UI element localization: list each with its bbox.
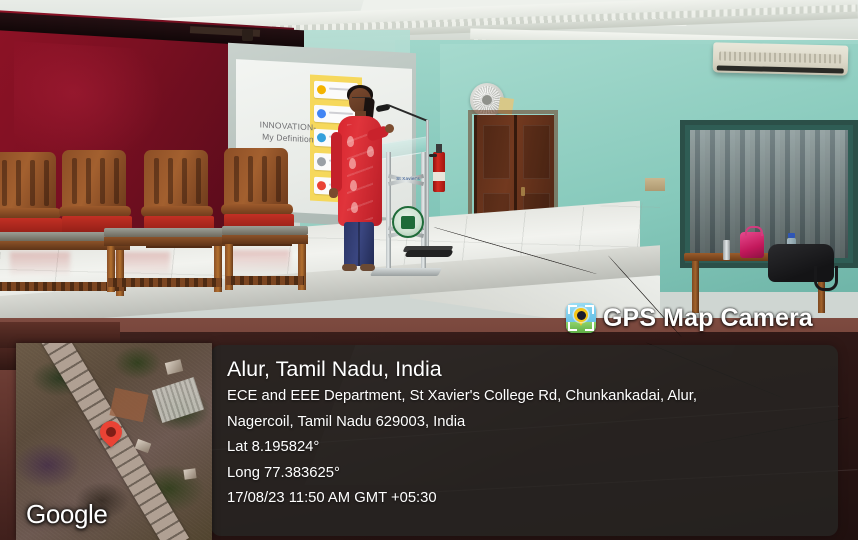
- mic-stand-pole: [426, 120, 429, 252]
- table-top: [222, 226, 308, 235]
- coffee-table: [222, 226, 308, 282]
- person-arm-left: [331, 132, 342, 192]
- location-info-panel: Alur, Tamil Nadu, India ECE and EEE Depa…: [211, 345, 838, 536]
- logo-bracket-top-left: [568, 305, 577, 314]
- person-footwear: [360, 264, 375, 271]
- table-top: [104, 228, 226, 237]
- ac-vent: [719, 51, 842, 63]
- gps-map-camera-photo: INNOVATION- My Definition: [0, 0, 858, 540]
- window-curtain-box: [680, 120, 858, 268]
- location-address-line-1: ECE and EEE Department, St Xavier's Coll…: [227, 384, 838, 410]
- location-latitude: Lat 8.195824°: [227, 435, 838, 461]
- table-rail: [108, 278, 222, 287]
- person-hand-left: [329, 188, 338, 198]
- mic-stand-base: [404, 250, 453, 257]
- logo-bracket-bottom-right: [585, 322, 594, 331]
- map-thumbnail[interactable]: Google: [16, 343, 212, 540]
- table-rail: [226, 276, 304, 285]
- location-longitude: Long 77.383625°: [227, 461, 838, 487]
- door-knob: [521, 187, 525, 196]
- slide-title-text: INNOVATION- My Definition: [243, 117, 333, 146]
- chair-back: [62, 150, 126, 212]
- fire-extinguisher: [433, 152, 445, 192]
- speaker-person: [333, 88, 385, 274]
- podium-name-plate: St Xavier's: [388, 176, 428, 181]
- coffee-table: [104, 228, 226, 292]
- location-title: Alur, Tamil Nadu, India: [227, 354, 838, 384]
- ac-lip: [717, 65, 844, 73]
- building: [183, 468, 196, 480]
- gps-map-camera-watermark: GPS Map Camera: [566, 303, 813, 333]
- air-conditioner-unit: [713, 42, 849, 75]
- person-jeans: [344, 222, 374, 266]
- table-apron: [104, 237, 226, 246]
- extinguisher-hose: [429, 154, 437, 157]
- location-address-line-2: Nagercoil, Tamil Nadu 629003, India: [227, 410, 838, 436]
- window-curtain: [690, 130, 848, 258]
- door-panel: [523, 125, 550, 179]
- gps-map-camera-logo-icon: [566, 303, 596, 333]
- logo-bracket-bottom-left: [568, 322, 577, 331]
- black-backpack: [768, 244, 834, 282]
- fan-hub: [482, 95, 492, 105]
- college-emblem: [392, 206, 424, 238]
- pink-bag: [740, 232, 764, 258]
- chair-back: [224, 148, 288, 210]
- person-footwear: [342, 264, 357, 271]
- chair-back: [0, 152, 56, 214]
- logo-bracket-top-right: [585, 305, 594, 314]
- curtain-rod-bracket: [242, 29, 253, 41]
- extinguisher-label: [433, 172, 445, 181]
- watermark-title: GPS Map Camera: [603, 304, 813, 333]
- person-hand-right: [385, 124, 394, 133]
- google-attribution: Google: [26, 499, 107, 530]
- door-panel: [483, 125, 510, 179]
- extinguisher-neck: [436, 144, 442, 153]
- wall-plaque: [645, 178, 665, 191]
- table-apron: [222, 235, 308, 244]
- location-timestamp: 17/08/23 11:50 AM GMT +05:30: [227, 486, 838, 512]
- chair-back: [144, 150, 208, 212]
- steel-tumbler: [723, 240, 730, 260]
